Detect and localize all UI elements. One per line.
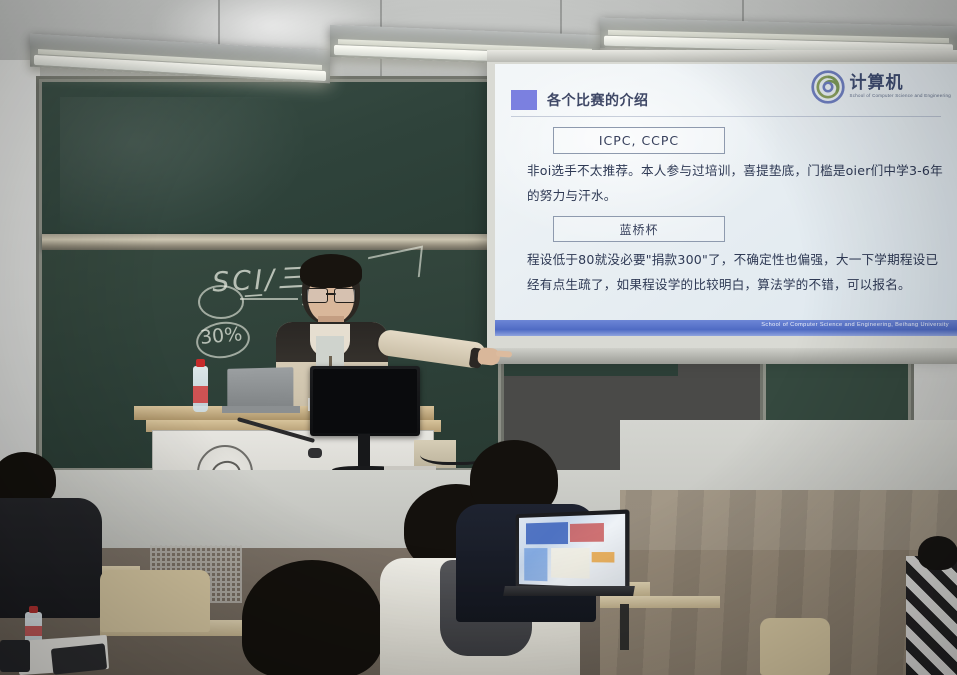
screen-top-bar <box>487 50 957 62</box>
slide-paragraph-1: 非oi选手不太推荐。本人参与过培训，喜提垫底，门槛是oier们中学3-6年的努力… <box>527 158 945 208</box>
student-laptop-base <box>503 586 635 596</box>
classroom-scene: SCI/三 一 30% が木 计算机 School of Computer Sc… <box>0 0 957 675</box>
slide-footer-text: School of Computer Science and Engineeri… <box>761 322 949 328</box>
student-front-center <box>222 560 402 675</box>
logo-english-name: School of Computer Science and Engineeri… <box>850 94 951 98</box>
slide-title: 各个比赛的介绍 <box>547 90 649 110</box>
monitor-stand-neck <box>358 434 370 468</box>
presenter-laptop <box>227 367 293 411</box>
title-accent-chip <box>511 90 537 110</box>
student-desk <box>600 596 720 608</box>
lectern-monitor <box>310 366 420 436</box>
chalk-circle-a <box>198 285 244 319</box>
screen-bottom-bar <box>487 348 957 364</box>
contest-box-lanqiaobei: 蓝桥杯 <box>553 216 725 242</box>
logo-chinese-name: 计算机 <box>850 75 951 92</box>
student-left-dark-jacket <box>0 452 110 632</box>
school-logo: 计算机 School of Computer Science and Engin… <box>810 70 951 104</box>
slide-title-row: 各个比赛的介绍 <box>511 90 649 110</box>
cup-on-desk <box>0 640 30 672</box>
presentation-slide: 计算机 School of Computer Science and Engin… <box>495 64 957 336</box>
laptop-screen-content <box>519 514 625 588</box>
chair <box>760 618 830 675</box>
contest-box-icpc: ICPC, CCPC <box>553 127 725 154</box>
slide-paragraph-2: 程设低于80就没必要"捐款300"了，不确定性也偏强，大一下学期程设已经有点生疏… <box>527 247 945 297</box>
title-underline <box>511 116 941 117</box>
student-right-plaid <box>906 556 957 675</box>
student-laptop-screen <box>516 509 630 592</box>
slide-footer-bar: School of Computer Science and Engineeri… <box>495 320 957 336</box>
presenter-laptop-base <box>222 406 300 413</box>
presenter-pointing-finger <box>496 350 512 357</box>
desk-leg <box>620 604 629 650</box>
presenter-hair <box>300 254 362 288</box>
water-bottle <box>193 366 208 412</box>
school-swirl-logo-icon <box>810 70 846 104</box>
glasses-icon <box>306 288 356 301</box>
student-right-head <box>918 536 957 570</box>
microphone-head <box>308 448 322 458</box>
left-wall <box>0 60 40 490</box>
chair <box>100 570 210 632</box>
projection-screen: 计算机 School of Computer Science and Engin… <box>487 60 957 350</box>
